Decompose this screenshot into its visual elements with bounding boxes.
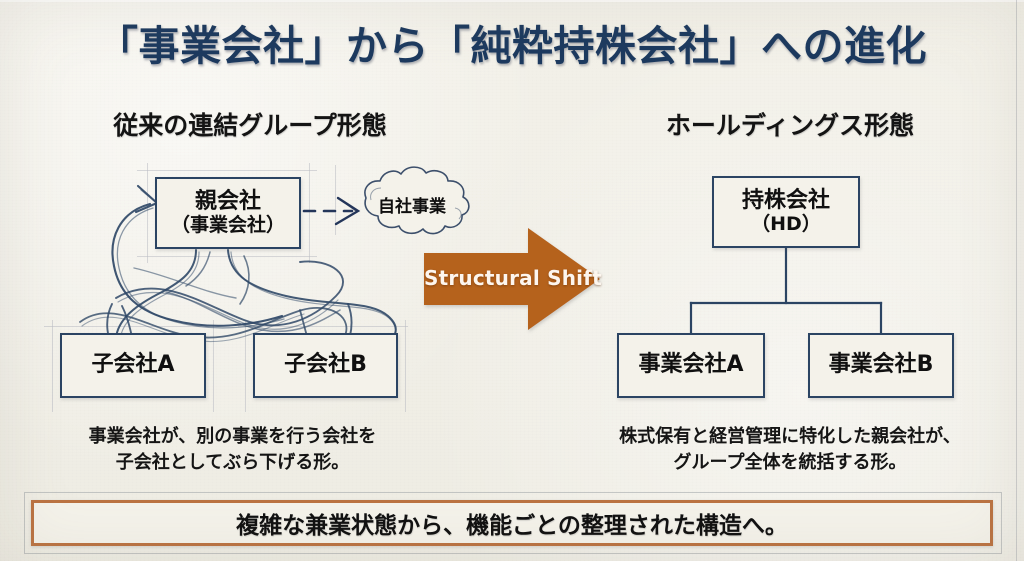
box-parent-company-line1: 親会社 [195, 190, 261, 215]
left-caption: 事業会社が、別の事業を行う会社を 子会社としてぶら下げる形。 [45, 424, 420, 476]
guide-mark [213, 320, 214, 412]
top-edge-line [0, 0, 1024, 2]
guide-mark [238, 326, 408, 327]
box-subsidiary-b: 子会社B [253, 333, 398, 398]
cloud-label: 自社事業 [364, 192, 460, 217]
box-subsidiary-b-label: 子会社B [284, 353, 367, 378]
slide-canvas: 「事業会社」から「純粋持株会社」への進化 従来の連結グループ形態 ホールディング… [0, 0, 1024, 561]
right-caption-line2: グループ全体を統括する形。 [600, 450, 980, 476]
org-connectors-group [691, 249, 881, 333]
box-holding-company-line2: （HD） [751, 214, 821, 235]
box-operating-company-a-label: 事業会社A [638, 353, 743, 378]
box-parent-company-line2: （事業会社） [171, 215, 285, 236]
footer-text: 複雑な兼業状態から、機能ごとの整理された構造へ。 [236, 506, 788, 540]
box-operating-company-b-label: 事業会社B [829, 353, 934, 378]
left-column-heading: 従来の連結グループ形態 [60, 106, 440, 142]
footer-banner: 複雑な兼業状態から、機能ごとの整理された構造へ。 [31, 500, 993, 546]
box-operating-company-b: 事業会社B [808, 333, 954, 398]
guide-mark [309, 163, 310, 263]
right-edge-line [1016, 0, 1017, 561]
box-operating-company-a: 事業会社A [617, 333, 765, 398]
guide-mark [405, 320, 406, 412]
box-subsidiary-a-label: 子会社A [91, 353, 174, 378]
guide-mark [335, 165, 336, 235]
left-caption-line2: 子会社としてぶら下げる形。 [45, 450, 420, 476]
guide-mark [137, 170, 317, 171]
box-subsidiary-a: 子会社A [60, 333, 206, 398]
right-caption-line1: 株式保有と経営管理に特化した親会社が、 [600, 424, 980, 450]
guide-mark [52, 320, 53, 412]
box-parent-company: 親会社 （事業会社） [155, 177, 301, 249]
guide-mark [147, 163, 148, 263]
right-caption: 株式保有と経営管理に特化した親会社が、 グループ全体を統括する形。 [600, 424, 980, 476]
guide-mark [137, 256, 317, 257]
dashed-arrow-to-cloud [304, 198, 358, 224]
left-caption-line1: 事業会社が、別の事業を行う会社を [45, 424, 420, 450]
structural-shift-label: Structural Shift [424, 266, 574, 290]
page-title: 「事業会社」から「純粋持株会社」への進化 [0, 12, 1024, 72]
box-holding-company-line1: 持株会社 [742, 189, 830, 214]
right-column-heading: ホールディングス形態 [600, 106, 980, 142]
guide-mark [44, 326, 214, 327]
box-holding-company: 持株会社 （HD） [712, 176, 860, 248]
guide-mark [245, 320, 246, 412]
